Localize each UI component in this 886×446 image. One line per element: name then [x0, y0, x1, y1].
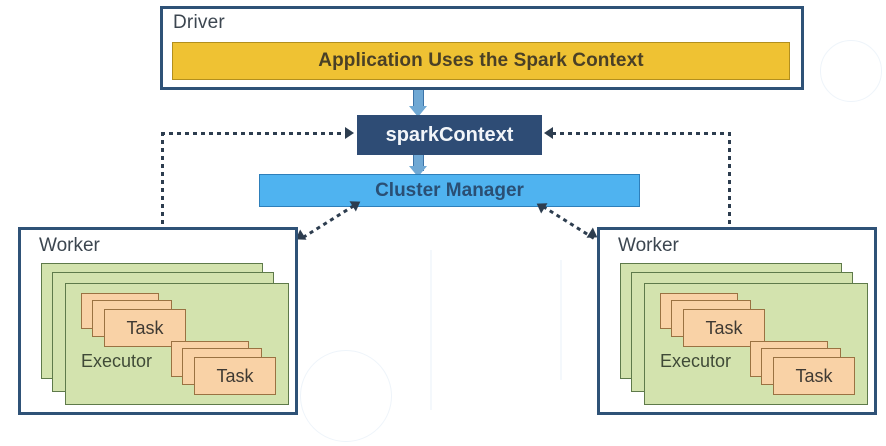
executor-label: Executor — [660, 351, 731, 372]
task-label: Task — [795, 366, 832, 387]
worker-box-left: Worker Executor Task Task — [18, 227, 298, 415]
worker-label: Worker — [39, 235, 100, 257]
cluster-manager-label: Cluster Manager — [375, 180, 524, 202]
task-label: Task — [126, 318, 163, 339]
task-stack: Task — [750, 341, 860, 397]
background-watermark — [300, 350, 392, 442]
application-label: Application Uses the Spark Context — [318, 50, 643, 72]
task-stack: Task — [171, 341, 281, 397]
task-label: Task — [705, 318, 742, 339]
task-card-front: Task — [773, 357, 855, 395]
spark-architecture-diagram: Driver Application Uses the Spark Contex… — [0, 0, 886, 446]
worker-label: Worker — [618, 235, 679, 257]
spark-context-box: sparkContext — [357, 115, 542, 155]
executor-stack-left: Executor Task Task — [41, 263, 289, 405]
task-label: Task — [216, 366, 253, 387]
application-box: Application Uses the Spark Context — [172, 42, 790, 80]
spark-context-label: sparkContext — [386, 124, 514, 147]
worker-box-right: Worker Executor Task Task — [597, 227, 877, 415]
cluster-manager-box: Cluster Manager — [259, 174, 640, 207]
task-card-front: Task — [194, 357, 276, 395]
driver-label: Driver — [173, 12, 225, 34]
executor-label: Executor — [81, 351, 152, 372]
background-watermark — [430, 250, 432, 410]
background-watermark — [820, 40, 882, 102]
executor-stack-right: Executor Task Task — [620, 263, 868, 405]
background-watermark — [560, 260, 562, 380]
